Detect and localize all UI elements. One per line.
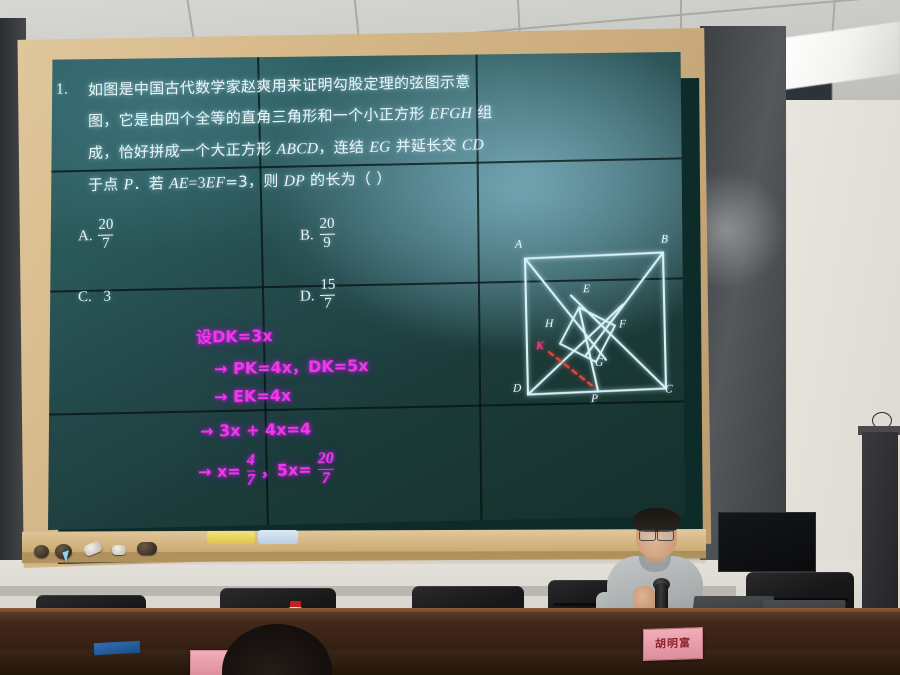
choice-c[interactable]: C. 3 bbox=[78, 289, 111, 307]
desk-front-panel bbox=[0, 650, 900, 675]
choice-c-key: C. bbox=[78, 289, 92, 305]
wall-panel-glare bbox=[700, 170, 786, 290]
question-line-3-c: ，连结 bbox=[318, 138, 369, 157]
screenshot-root: 1. 如图是中国古代数学家赵爽用来证明勾股定理的弦图示意 图，它是由四个全等的直… bbox=[0, 0, 900, 675]
question-line-3-f: CD bbox=[462, 136, 484, 153]
choice-a-denominator: 7 bbox=[98, 237, 113, 253]
choice-a-key: A. bbox=[78, 228, 93, 244]
question-line-3-d: EG bbox=[369, 138, 390, 155]
question-line-1: 如图是中国古代数学家赵爽用来证明勾股定理的弦图示意 bbox=[88, 71, 471, 100]
handwriting-line-1: 设DK=3x bbox=[196, 322, 273, 348]
handwriting-frac1-denominator: 7 bbox=[247, 473, 255, 490]
blue-chalk-box[interactable] bbox=[258, 530, 298, 544]
figure-label-h: H bbox=[545, 318, 553, 330]
question-line-4-a: 于点 bbox=[88, 175, 124, 194]
handwriting-line-5-mid: ，5x= bbox=[261, 460, 312, 480]
question-line-4-f: EF bbox=[206, 174, 226, 191]
nameplate: 胡明富 bbox=[643, 627, 703, 661]
handwriting-line-3-text: → EK=4x bbox=[214, 386, 291, 407]
side-cabinet bbox=[862, 432, 898, 622]
choice-d-denominator: 7 bbox=[320, 297, 335, 313]
handwriting-frac1-numerator: 4 bbox=[247, 452, 255, 469]
question-line-2-b: EFGH bbox=[430, 105, 473, 123]
eyeglasses-icon bbox=[657, 530, 674, 541]
figure-label-c: C bbox=[665, 383, 673, 395]
figure-label-d: D bbox=[513, 383, 521, 395]
yellow-eraser[interactable] bbox=[207, 531, 255, 544]
question-line-4-g: =3，则 bbox=[225, 172, 283, 191]
nameplate-text: 胡明富 bbox=[644, 628, 702, 660]
question-line-4-h: DP bbox=[284, 172, 305, 189]
question-line-4-e: =3 bbox=[189, 175, 206, 192]
cable-coil-icon bbox=[872, 412, 892, 429]
handwriting-frac2-numerator: 20 bbox=[318, 451, 334, 468]
choice-a[interactable]: A. 20 7 bbox=[78, 217, 115, 253]
question-line-2-a: 图，它是由四个全等的直角三角形和一个小正方形 bbox=[88, 105, 430, 130]
handwriting-line-1-text: 设DK=3x bbox=[196, 326, 273, 347]
question-line-3-a: 成，恰好拼成一个大正方形 bbox=[88, 140, 277, 162]
wall-dark-panel bbox=[700, 26, 786, 586]
choice-a-fraction: 20 7 bbox=[98, 218, 113, 254]
choice-d-numerator: 15 bbox=[320, 278, 335, 294]
handwriting-fraction-2: 20 7 bbox=[318, 451, 334, 489]
question-line-2-c: 组 bbox=[472, 103, 492, 121]
figure-label-e: E bbox=[583, 283, 590, 295]
figure-label-p: P bbox=[591, 393, 598, 405]
handwriting-frac2-denominator: 7 bbox=[318, 471, 334, 488]
question-line-4-c: ．若 bbox=[133, 174, 169, 193]
handwriting-line-4-text: → 3x + 4x=4 bbox=[200, 419, 311, 440]
question-line-4-i: 的长为（ ） bbox=[305, 169, 392, 189]
handwriting-line-3: → EK=4x bbox=[214, 386, 291, 408]
question-line-4-d: AE bbox=[169, 175, 189, 192]
handwriting-line-2-text: → PK=4x，DK=5x bbox=[214, 356, 369, 378]
handwriting-line-5: → x= 4 7 ，5x= 20 7 bbox=[198, 451, 336, 491]
chord-b-h bbox=[586, 253, 663, 356]
question-number: 1. bbox=[56, 81, 68, 99]
figure-label-f: F bbox=[619, 318, 626, 330]
display-panel bbox=[718, 512, 816, 572]
handwriting-fraction-1: 4 7 bbox=[247, 452, 255, 490]
presenter-hair bbox=[633, 508, 680, 532]
choice-d-fraction: 15 7 bbox=[320, 278, 335, 314]
choice-d[interactable]: D. 15 7 bbox=[300, 278, 337, 314]
chalk-icon[interactable] bbox=[112, 545, 126, 555]
choice-b-key: B. bbox=[300, 227, 314, 243]
blue-folder[interactable] bbox=[94, 641, 141, 655]
choice-d-key: D. bbox=[300, 288, 315, 304]
question-line-3: 成，恰好拼成一个大正方形 ABCD，连结 EG 并延长交 CD bbox=[88, 133, 484, 163]
eraser-icon[interactable] bbox=[34, 545, 49, 558]
choice-b-numerator: 20 bbox=[320, 217, 335, 233]
question-line-4: 于点 P．若 AE=3EF=3，则 DP 的长为（ ） bbox=[88, 167, 392, 195]
figure-label-a: A bbox=[515, 239, 522, 251]
eyeglasses-icon bbox=[639, 530, 656, 541]
choice-b-denominator: 9 bbox=[320, 236, 335, 252]
dots-icon[interactable] bbox=[137, 542, 157, 555]
question-line-1-text: 如图是中国古代数学家赵爽用来证明勾股定理的弦图示意 bbox=[88, 73, 471, 99]
question-line-3-b: ABCD bbox=[277, 140, 319, 158]
choice-b[interactable]: B. 20 9 bbox=[300, 217, 337, 253]
figure-label-b: B bbox=[661, 233, 668, 245]
choice-b-fraction: 20 9 bbox=[320, 217, 335, 253]
geometry-figure-svg bbox=[503, 233, 683, 412]
figure-label-k: K bbox=[536, 340, 544, 352]
question-line-3-e: 并延长交 bbox=[391, 136, 462, 156]
handwriting-line-5-prefix: → x= bbox=[198, 461, 241, 481]
handwriting-line-4: → 3x + 4x=4 bbox=[200, 419, 311, 441]
dashed-segment-kp bbox=[549, 351, 595, 389]
figure-label-g: G bbox=[595, 357, 603, 369]
choice-a-numerator: 20 bbox=[98, 218, 113, 234]
blackboard-content: 1. 如图是中国古代数学家赵爽用来证明勾股定理的弦图示意 图，它是由四个全等的直… bbox=[48, 45, 685, 537]
handwriting-line-2: → PK=4x，DK=5x bbox=[214, 352, 369, 379]
question-line-4-b: P bbox=[124, 176, 134, 193]
choice-c-value: 3 bbox=[104, 289, 112, 305]
geometry-figure: A B C D E F G H P K bbox=[503, 233, 683, 412]
question-line-2: 图，它是由四个全等的直角三角形和一个小正方形 EFGH 组 bbox=[88, 101, 493, 131]
